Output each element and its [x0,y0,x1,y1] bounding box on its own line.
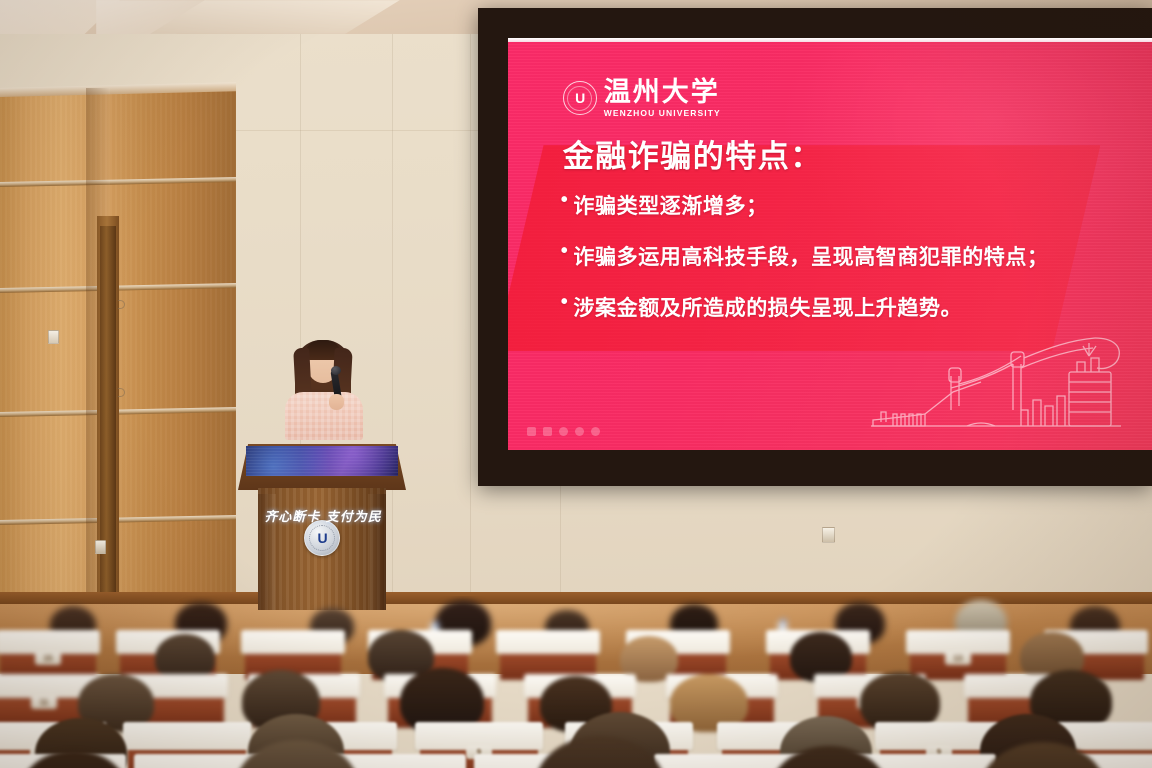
presenter-toolbar[interactable] [527,427,600,436]
bullet-text: 诈骗多运用高科技手段，呈现高智商犯罪的特点； [573,241,1048,271]
projection-screen: U 温州大学 WENZHOU UNIVERSITY 金融诈骗的特点： • 诈骗类… [508,38,1152,450]
seat-number: 13 [945,652,971,665]
zoom-icon[interactable] [575,427,584,436]
seat-number: 15 [35,652,61,665]
wall-switch[interactable] [48,330,59,344]
audience-seating: 15 13 [0,596,1152,768]
wall-outlet[interactable] [822,527,835,543]
bullet-marker-icon: • [561,241,569,262]
seat-headrest-cover [906,630,1010,654]
wall-panel-seam [470,34,471,600]
university-emblem-icon: U [563,81,597,115]
bullet-text: 涉案金额及所造成的损失呈现上升趋势。 [573,292,962,322]
pen-icon[interactable] [527,427,536,436]
wall-outlet[interactable] [95,540,106,554]
slide-bullet-item: • 诈骗类型逐渐增多； [561,190,1120,220]
seat-headrest-cover [496,630,600,654]
slide-bullet-list: • 诈骗类型逐渐增多； • 诈骗多运用高科技手段，呈现高智商犯罪的特点； • 涉… [561,190,1120,322]
university-name-cn: 温州大学 [604,79,721,107]
bullet-marker-icon: • [561,190,569,211]
seat-headrest-cover [0,630,100,654]
bullet-text: 诈骗类型逐渐增多； [573,190,767,220]
seat-headrest-cover [241,630,345,654]
university-logo: U 温州大学 WENZHOU UNIVERSITY [563,79,721,118]
microphone-head-icon [331,366,341,375]
emblem-letter: U [575,91,584,105]
screen-top-highlight [508,38,1152,42]
more-options-icon[interactable] [591,427,600,436]
city-skyline-icon [863,322,1133,442]
slide-bullet-item: • 诈骗多运用高科技手段，呈现高智商犯罪的特点； [561,241,1120,271]
slide-bullet-item: • 涉案金额及所造成的损失呈现上升趋势。 [561,292,1120,322]
presenter-hand [329,394,344,410]
podium: 齐心断卡 支付为民 U [228,420,418,610]
podium-banner-text: 齐心断卡 支付为民 [228,420,418,610]
wall-panel-seam [560,480,561,600]
university-name-en: WENZHOU UNIVERSITY [604,108,721,118]
slide-title: 金融诈骗的特点： [563,131,823,176]
pointer-icon[interactable] [559,427,568,436]
slide-icon[interactable] [543,427,552,436]
seat-number: 11 [31,696,57,709]
lecture-hall-photo: U 温州大学 WENZHOU UNIVERSITY 金融诈骗的特点： • 诈骗类… [0,0,1152,768]
seat-headrest-cover [123,722,250,750]
bullet-marker-icon: • [561,292,569,313]
